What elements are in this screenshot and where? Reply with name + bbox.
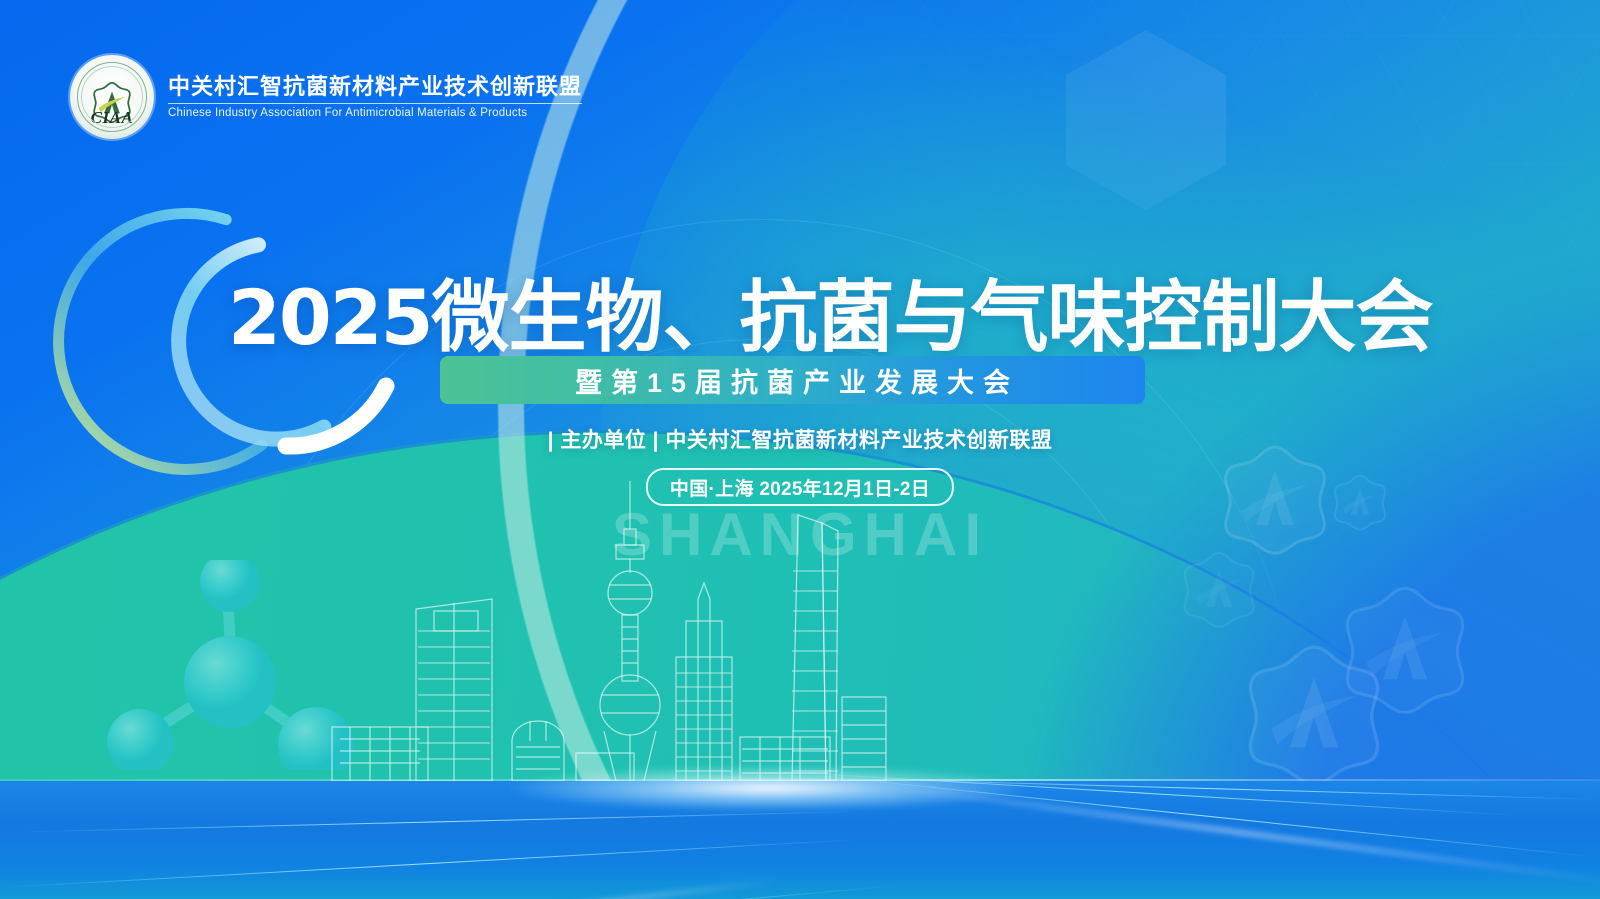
star-watermark-icon: [1238, 638, 1390, 790]
hexagon-accent-icon: [1066, 30, 1226, 210]
molecule-graphic: [80, 560, 370, 775]
star-watermark-icon: [1330, 472, 1390, 532]
star-emblem-icon: [90, 81, 134, 128]
star-watermark-icon: [1178, 548, 1260, 630]
ciaa-acronym: CIAA: [91, 108, 134, 128]
association-name-en: Chinese Industry Association For Antimic…: [168, 103, 582, 119]
logo-text-block: 中关村汇智抗菌新材料产业技术创新联盟 Chinese Industry Asso…: [168, 75, 582, 118]
city-watermark: SHANGHAI: [612, 500, 988, 569]
ciaa-logo-mark: CIAA: [70, 55, 154, 139]
host-organization-line: | 主办单位 | 中关村汇智抗菌新材料产业技术创新联盟: [0, 424, 1600, 454]
title-main: 微生物、抗菌与气味控制大会: [432, 273, 1433, 361]
association-name-cn: 中关村汇智抗菌新材料产业技术创新联盟: [168, 75, 582, 99]
title-year: 2025: [228, 273, 432, 362]
blue-corner-shape: [860, 99, 1600, 859]
conference-poster: CIAA 中关村汇智抗菌新材料产业技术创新联盟 Chinese Industry…: [0, 0, 1600, 899]
horizon-glow: [508, 765, 1028, 811]
conference-title: 2025微生物、抗菌与气味控制大会: [228, 255, 1388, 367]
horizon-line: [0, 779, 1600, 781]
date-location-text: 中国·上海 2025年12月1日-2日: [670, 474, 930, 501]
light-rays: [0, 760, 1600, 899]
road-foreground: [0, 781, 1600, 899]
conference-subtitle: 暨第15届抗菌产业发展大会: [566, 361, 1019, 400]
star-watermark-icon: [1336, 580, 1474, 718]
association-logo[interactable]: CIAA 中关村汇智抗菌新材料产业技术创新联盟 Chinese Industry…: [70, 55, 582, 139]
conference-subtitle-bar: 暨第15届抗菌产业发展大会: [440, 356, 1145, 404]
star-watermark-icon: [1216, 440, 1334, 558]
date-location-pill: 中国·上海 2025年12月1日-2日: [646, 468, 954, 506]
